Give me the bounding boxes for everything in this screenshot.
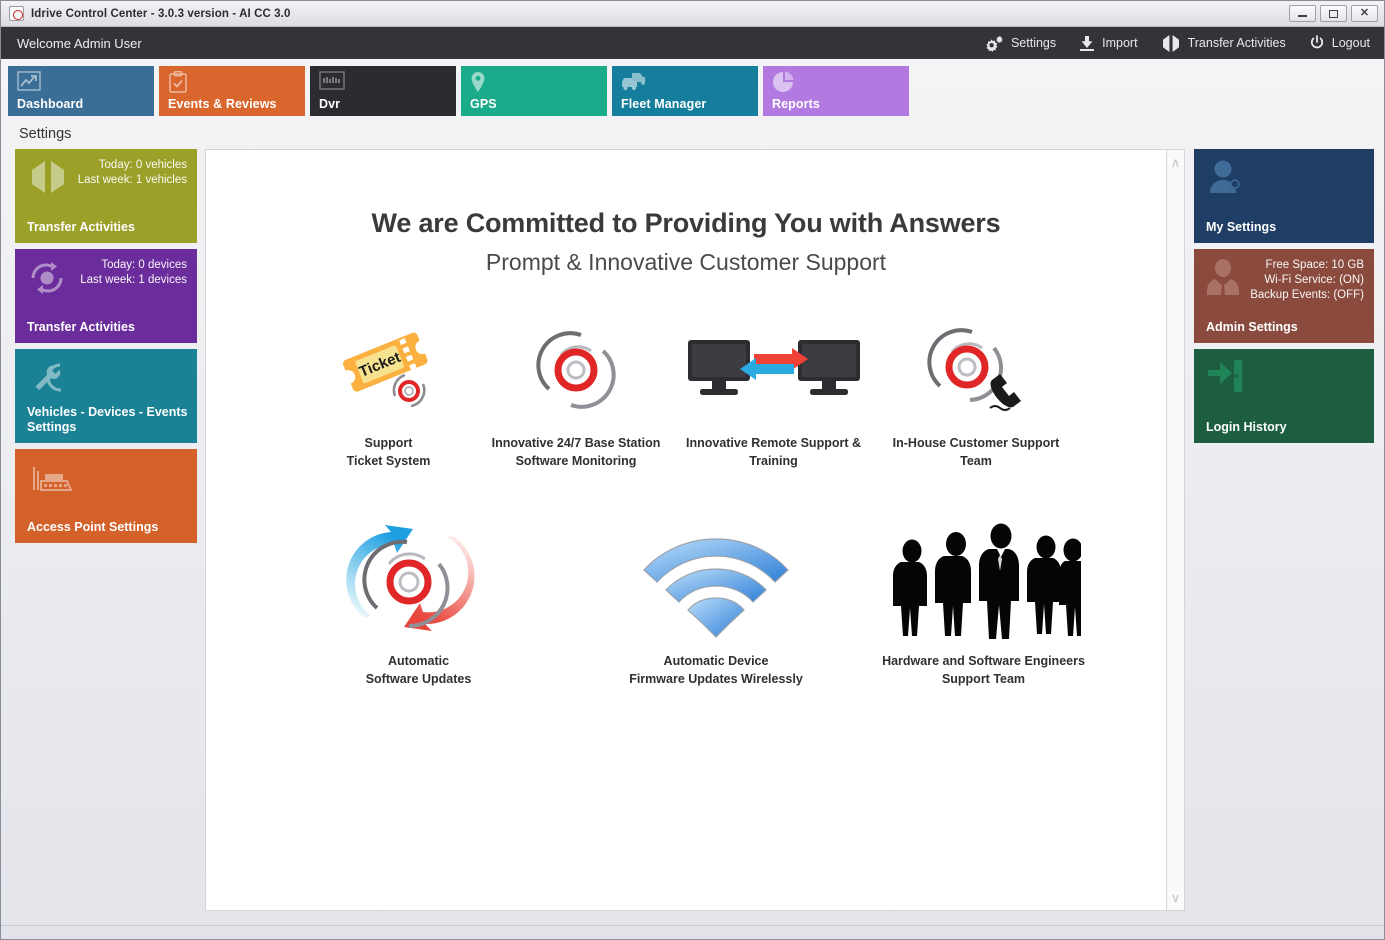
- feature-base-station-monitoring: Innovative 24/7 Base Station Software Mo…: [481, 318, 671, 470]
- tile-label: Admin Settings: [1206, 320, 1366, 335]
- target-rings-icon: [533, 327, 619, 413]
- tile-label: Vehicles - Devices - Events Settings: [27, 405, 189, 435]
- tile-stat-line: Backup Events: (OFF): [1250, 288, 1364, 303]
- breadcrumb: Settings: [1, 116, 1384, 143]
- welcome-text: Welcome Admin User: [17, 36, 142, 51]
- router-icon: [27, 459, 73, 498]
- sync-circle-icon: [27, 259, 67, 302]
- content-panel: We are Committed to Providing You with A…: [205, 149, 1167, 911]
- page-body: Today: 0 vehicles Last week: 1 vehicles …: [1, 143, 1384, 925]
- feature-caption: In-House Customer Support Team: [876, 434, 1076, 470]
- features-row-2: Automatic Software Updates: [206, 510, 1166, 688]
- tab-fleet-manager[interactable]: Fleet Manager: [612, 66, 758, 116]
- feature-caption: Support Ticket System: [296, 434, 481, 470]
- toolbar-transfer-label: Transfer Activities: [1188, 36, 1286, 50]
- feature-art: Ticket: [296, 318, 481, 422]
- window-title: Idrive Control Center - 3.0.3 version - …: [31, 8, 290, 20]
- hero-section: We are Committed to Providing You with A…: [206, 150, 1166, 276]
- chart-trend-icon: [17, 71, 41, 96]
- tile-stat-line: Today: 0 vehicles: [78, 158, 187, 173]
- gears-icon: [985, 35, 1004, 52]
- feature-art: [566, 510, 866, 640]
- tile-admin-settings[interactable]: Free Space: 10 GB Wi-Fi Service: (ON) Ba…: [1194, 249, 1374, 343]
- tab-reports[interactable]: Reports: [763, 66, 909, 116]
- admin-user-icon: [1206, 259, 1240, 300]
- feature-art: [671, 318, 876, 422]
- user-gear-icon: [1206, 159, 1244, 200]
- minimize-button[interactable]: [1289, 5, 1316, 22]
- center-region: We are Committed to Providing You with A…: [205, 149, 1185, 911]
- toolbar-settings-button[interactable]: Settings: [985, 35, 1056, 52]
- map-pin-icon: [470, 71, 486, 98]
- tab-dashboard-label: Dashboard: [17, 97, 83, 111]
- feature-caption: Innovative Remote Support & Training: [671, 434, 876, 470]
- page-title: Settings: [19, 126, 71, 142]
- feature-caption: Innovative 24/7 Base Station Software Mo…: [481, 434, 671, 470]
- cars-icon: [621, 71, 648, 96]
- transfer-arrows-icon: [27, 159, 69, 200]
- target-phone-icon: [926, 324, 1026, 416]
- tab-events-reviews-label: Events & Reviews: [168, 97, 277, 111]
- tile-label: My Settings: [1206, 220, 1366, 235]
- toolbar-actions: Settings Import: [985, 35, 1370, 52]
- tile-login-history[interactable]: Login History: [1194, 349, 1374, 443]
- main-nav-tabs: Dashboard Events & Reviews: [1, 59, 1384, 116]
- tile-stats: Today: 0 vehicles Last week: 1 vehicles: [78, 158, 187, 188]
- scroll-down-arrow-icon[interactable]: ∨: [1171, 891, 1181, 904]
- feature-device-firmware-updates: Automatic Device Firmware Updates Wirele…: [566, 510, 866, 688]
- tile-label: Login History: [1206, 420, 1366, 435]
- tile-transfer-activities-devices[interactable]: Today: 0 devices Last week: 1 devices Tr…: [15, 249, 197, 343]
- maximize-icon: [1329, 10, 1338, 18]
- toolbar-import-label: Import: [1102, 36, 1137, 50]
- app-window: Idrive Control Center - 3.0.3 version - …: [0, 0, 1385, 940]
- feature-caption: Automatic Device Firmware Updates Wirele…: [566, 652, 866, 688]
- feature-hardware-software-engineers: Hardware and Software Engineers Support …: [866, 510, 1101, 688]
- tile-transfer-activities-vehicles[interactable]: Today: 0 vehicles Last week: 1 vehicles …: [15, 149, 197, 243]
- power-icon: [1309, 35, 1325, 51]
- tile-label: Transfer Activities: [27, 220, 189, 235]
- feature-automatic-software-updates: Automatic Software Updates: [271, 510, 566, 688]
- left-sidebar: Today: 0 vehicles Last week: 1 vehicles …: [15, 149, 197, 911]
- feature-caption: Automatic Software Updates: [271, 652, 566, 688]
- clipboard-check-icon: [168, 71, 188, 98]
- feature-in-house-support-team: In-House Customer Support Team: [876, 318, 1076, 470]
- login-door-icon: [1206, 359, 1244, 398]
- tile-stat-line: Last week: 1 devices: [80, 273, 187, 288]
- support-ticket-icon: Ticket: [337, 324, 441, 416]
- status-bar: [1, 925, 1384, 939]
- scroll-up-arrow-icon[interactable]: ∧: [1171, 156, 1181, 169]
- tile-label: Transfer Activities: [27, 320, 189, 335]
- tile-stat-line: Today: 0 devices: [80, 258, 187, 273]
- feature-art: [481, 318, 671, 422]
- tile-my-settings[interactable]: My Settings: [1194, 149, 1374, 243]
- tab-fleet-manager-label: Fleet Manager: [621, 97, 706, 111]
- transfer-arrows-icon: [1161, 35, 1181, 52]
- feature-support-ticket-system: Ticket Support Ticket System: [296, 318, 481, 470]
- tab-gps-label: GPS: [470, 97, 497, 111]
- tile-stat-line: Free Space: 10 GB: [1250, 258, 1364, 273]
- toolbar-logout-label: Logout: [1332, 36, 1370, 50]
- features-row-1: Ticket Support Ticket System: [206, 318, 1166, 470]
- right-sidebar: My Settings Free Space: 10 GB: [1194, 149, 1374, 911]
- feature-art: [876, 318, 1076, 422]
- top-toolbar: Welcome Admin User Settings: [1, 27, 1384, 59]
- toolbar-logout-button[interactable]: Logout: [1309, 35, 1370, 51]
- tab-dashboard[interactable]: Dashboard: [8, 66, 154, 116]
- tile-vehicles-devices-events-settings[interactable]: Vehicles - Devices - Events Settings: [15, 349, 197, 443]
- maximize-button[interactable]: [1320, 5, 1347, 22]
- tab-reports-label: Reports: [772, 97, 820, 111]
- feature-caption: Hardware and Software Engineers Support …: [866, 652, 1101, 688]
- two-monitors-icon: [684, 330, 864, 410]
- tab-gps[interactable]: GPS: [461, 66, 607, 116]
- download-icon: [1079, 35, 1095, 51]
- team-silhouette-icon: [886, 522, 1081, 640]
- wifi-signal-icon: [641, 525, 791, 640]
- tile-stat-line: Last week: 1 vehicles: [78, 173, 187, 188]
- minimize-icon: [1298, 15, 1307, 17]
- tile-label: Access Point Settings: [27, 520, 189, 535]
- toolbar-import-button[interactable]: Import: [1079, 35, 1137, 51]
- pie-chart-icon: [772, 71, 794, 98]
- hero-subheadline: Prompt & Innovative Customer Support: [206, 249, 1166, 276]
- hero-headline: We are Committed to Providing You with A…: [206, 208, 1166, 239]
- close-button[interactable]: ✕: [1351, 5, 1378, 22]
- toolbar-settings-label: Settings: [1011, 36, 1056, 50]
- title-bar: Idrive Control Center - 3.0.3 version - …: [1, 1, 1384, 27]
- content-scrollbar[interactable]: ∧ ∨: [1167, 149, 1185, 911]
- app-logo-icon: [9, 6, 24, 21]
- wrench-icon: [27, 359, 67, 402]
- toolbar-transfer-activities-button[interactable]: Transfer Activities: [1161, 35, 1286, 52]
- tab-dvr-label: Dvr: [319, 97, 340, 111]
- feature-remote-support-training: Innovative Remote Support & Training: [671, 318, 876, 470]
- tile-stat-line: Wi-Fi Service: (ON): [1250, 273, 1364, 288]
- feature-art: [271, 510, 566, 640]
- tile-access-point-settings[interactable]: Access Point Settings: [15, 449, 197, 543]
- tab-events-reviews[interactable]: Events & Reviews: [159, 66, 305, 116]
- window-controls: ✕: [1289, 5, 1380, 22]
- refresh-target-icon: [331, 520, 506, 640]
- tile-stats: Today: 0 devices Last week: 1 devices: [80, 258, 187, 288]
- feature-art: [866, 510, 1101, 640]
- tab-dvr[interactable]: Dvr: [310, 66, 456, 116]
- dvr-icon: [319, 71, 345, 95]
- tile-stats: Free Space: 10 GB Wi-Fi Service: (ON) Ba…: [1250, 258, 1364, 303]
- close-icon: ✕: [1360, 8, 1369, 19]
